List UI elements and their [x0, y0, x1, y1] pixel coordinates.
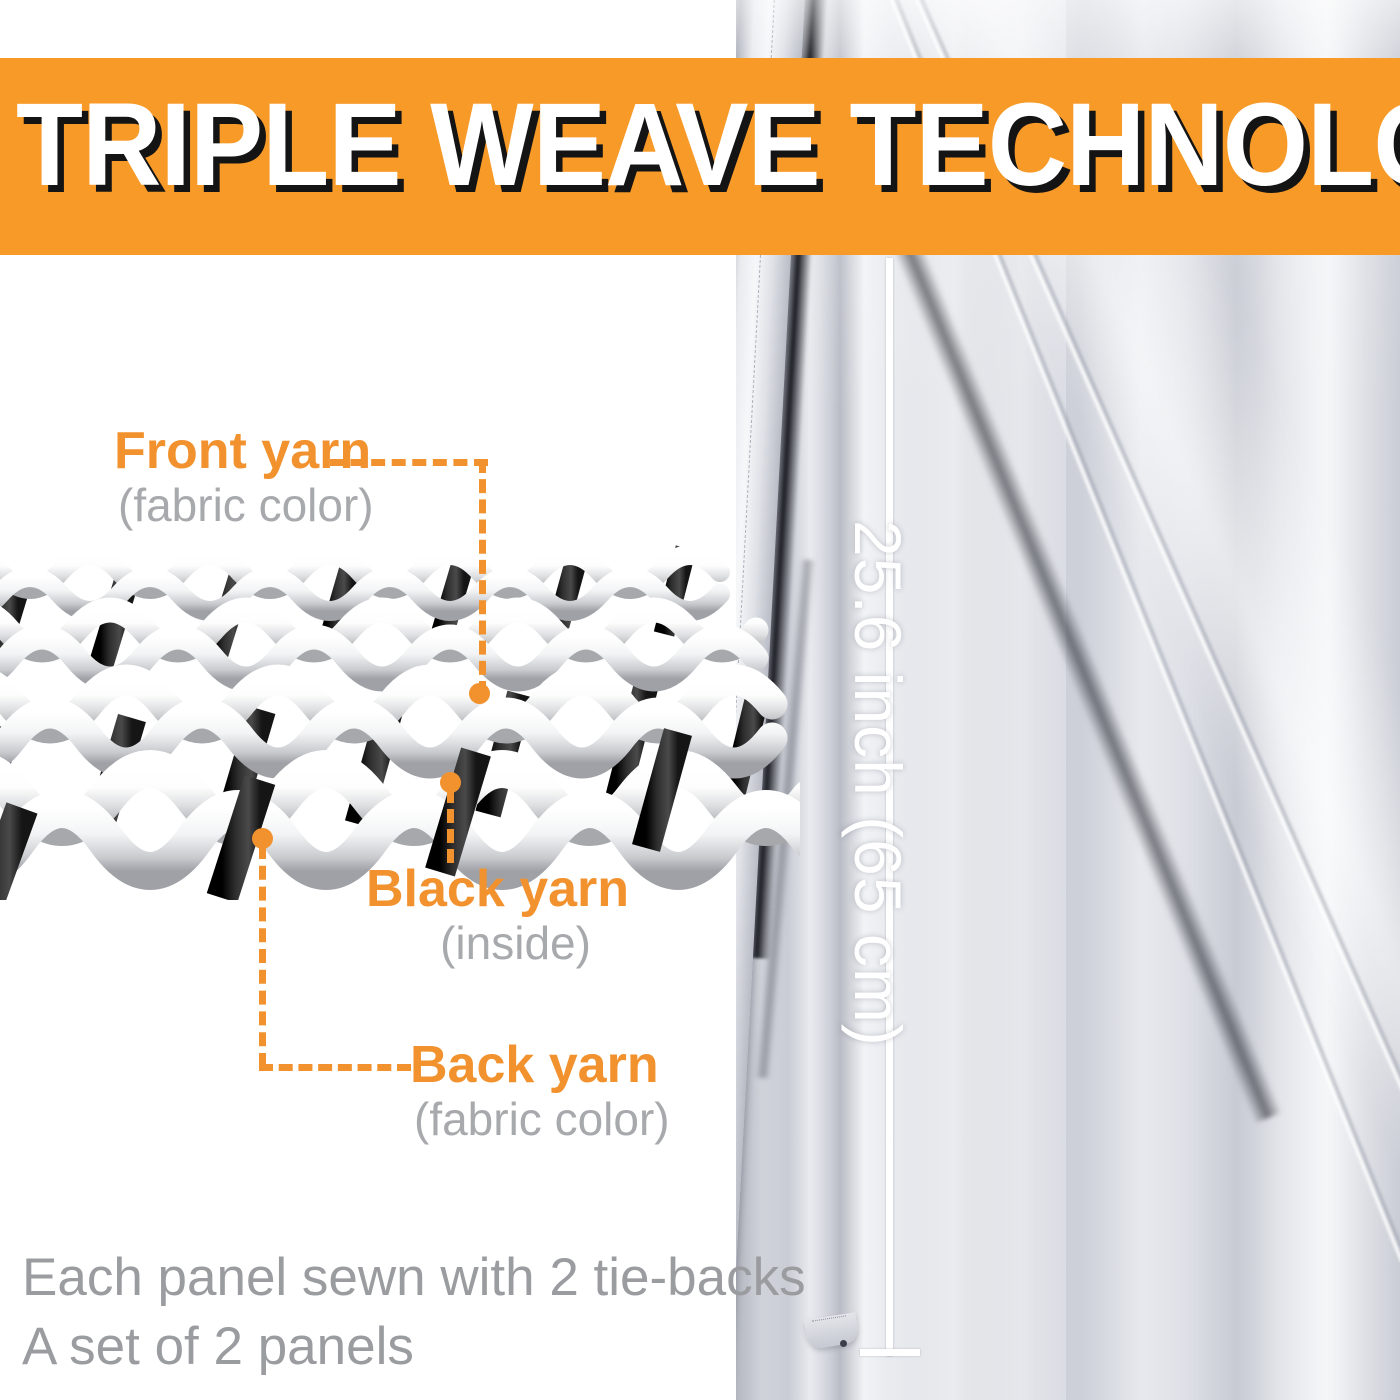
callout-back-yarn-subtitle: (fabric color) [414, 1093, 670, 1146]
callout-back-yarn: Back yarn (fabric color) [410, 1038, 670, 1145]
callout-front-yarn-subtitle: (fabric color) [118, 479, 374, 532]
curtain-top-edge-light [736, 0, 1400, 58]
front-yarn-anchor-dot [469, 683, 490, 704]
infographic-canvas: 25.6 inch (65 cm) TRIPLE WEAVE TECHNOLOG… [0, 0, 1400, 1400]
callout-back-yarn-title: Back yarn [410, 1038, 670, 1093]
callout-black-yarn-title: Black yarn [366, 862, 629, 917]
product-note-line-1: Each panel sewn with 2 tie-backs [22, 1244, 806, 1313]
product-notes: Each panel sewn with 2 tie-backs A set o… [22, 1244, 806, 1382]
back-yarn-leader-vertical [259, 845, 266, 1067]
black-yarn-leader-vertical [447, 789, 454, 863]
callout-black-yarn: Black yarn (inside) [366, 862, 629, 969]
back-yarn-leader-horizontal [259, 1064, 411, 1071]
product-note-line-2: A set of 2 panels [22, 1313, 806, 1382]
headline-banner: TRIPLE WEAVE TECHNOLOGY [0, 58, 1400, 255]
callout-black-yarn-subtitle: (inside) [402, 917, 629, 970]
headline-title: TRIPLE WEAVE TECHNOLOGY [16, 76, 1400, 215]
measurement-label: 25.6 inch (65 cm) [840, 520, 916, 1047]
measurement-end-cap [860, 1349, 920, 1356]
front-yarn-leader-vertical [479, 459, 486, 695]
weave-white-yarns [0, 555, 800, 871]
callout-front-yarn-title: Front yarn [114, 424, 374, 479]
triple-weave-illustration [0, 480, 800, 900]
callout-front-yarn: Front yarn (fabric color) [114, 424, 374, 531]
tie-back-eyelet [840, 1340, 847, 1347]
